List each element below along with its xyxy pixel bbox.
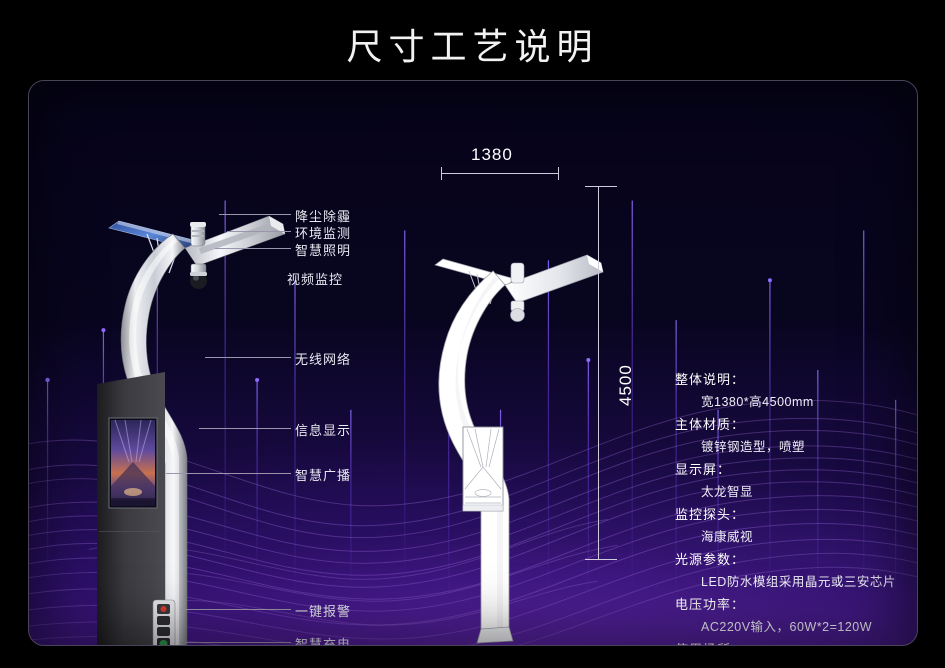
spec-value: LED防水模组采用晶元或三安芯片 [675, 571, 918, 590]
specifications-list: 整体说明： 宽1380*高4500mm 主体材质： 镀锌钢造型，喷塑 显示屏： … [675, 369, 918, 646]
page-title: 尺寸工艺说明 [0, 18, 945, 70]
spec-item: 电压功率： AC220V输入，60W*2=120W [675, 594, 918, 635]
callout-label: 智慧照明 [295, 240, 351, 259]
information-display-screen-outline [463, 427, 503, 511]
spec-item: 整体说明： 宽1380*高4500mm [675, 369, 918, 410]
smart-pole-technical-outline [429, 241, 659, 646]
spec-heading: 光源参数： [675, 549, 918, 568]
information-display-screen [109, 418, 157, 508]
callout-leader-line [199, 428, 291, 429]
spec-item: 光源参数： LED防水模组采用晶元或三安芯片 [675, 549, 918, 590]
dimension-width-tick-left [441, 167, 442, 180]
emergency-and-charging-panel [153, 600, 175, 646]
smart-pole-rendered-illustration [69, 186, 299, 646]
emergency-alarm-button [161, 606, 167, 612]
pole-base-outline [477, 627, 513, 643]
spec-heading: 显示屏： [675, 459, 918, 478]
spec-heading: 使用场所： [675, 639, 918, 646]
spec-value: 宽1380*高4500mm [675, 391, 918, 410]
surveillance-camera-outline [511, 301, 525, 322]
illustration-panel: 1380 4500 整体说明： 宽1380*高4500mm 主体材质： 镀锌钢造… [28, 80, 918, 646]
dimension-height-label: 4500 [616, 364, 636, 406]
callout-label: 信息显示 [295, 420, 351, 439]
callout-label: 智慧充电 [295, 634, 351, 646]
environment-sensor [190, 222, 206, 246]
surveillance-camera [190, 264, 207, 289]
callout-leader-line [227, 231, 291, 232]
callout-leader-line [181, 609, 291, 610]
spec-value: AC220V输入，60W*2=120W [675, 616, 918, 635]
callout-label: 视频监控 [287, 269, 343, 288]
callout-label: 智慧广播 [295, 465, 351, 484]
callout-leader-line [219, 214, 291, 215]
spec-item: 主体材质： 镀锌钢造型，喷塑 [675, 414, 918, 455]
dimension-height-line [598, 186, 599, 559]
dimension-width-tick-right [558, 167, 559, 180]
environment-sensor-outline [511, 263, 524, 283]
spec-item: 监控探头： 海康威视 [675, 504, 918, 545]
callout-leader-line [215, 248, 291, 249]
spec-heading: 监控探头： [675, 504, 918, 523]
dimension-width-label: 1380 [471, 145, 513, 165]
dimension-width-line [441, 173, 559, 174]
spec-item: 显示屏： 太龙智显 [675, 459, 918, 500]
callout-leader-line [166, 473, 291, 474]
callout-label: 无线网络 [295, 349, 351, 368]
dimension-height-tick-bottom [585, 559, 617, 560]
spec-value: 镀锌钢造型，喷塑 [675, 436, 918, 455]
spec-value: 海康威视 [675, 526, 918, 545]
spec-heading: 整体说明： [675, 369, 918, 388]
callout-leader-line [181, 642, 291, 643]
callout-label: 一键报警 [295, 601, 351, 620]
callout-leader-line [205, 357, 291, 358]
spec-item: 使用场所： 街道、小区、庭院，大型广场 [675, 639, 918, 646]
spec-value: 太龙智显 [675, 481, 918, 500]
dimension-height-tick-top [585, 186, 617, 187]
spec-heading: 电压功率： [675, 594, 918, 613]
spec-heading: 主体材质： [675, 414, 918, 433]
